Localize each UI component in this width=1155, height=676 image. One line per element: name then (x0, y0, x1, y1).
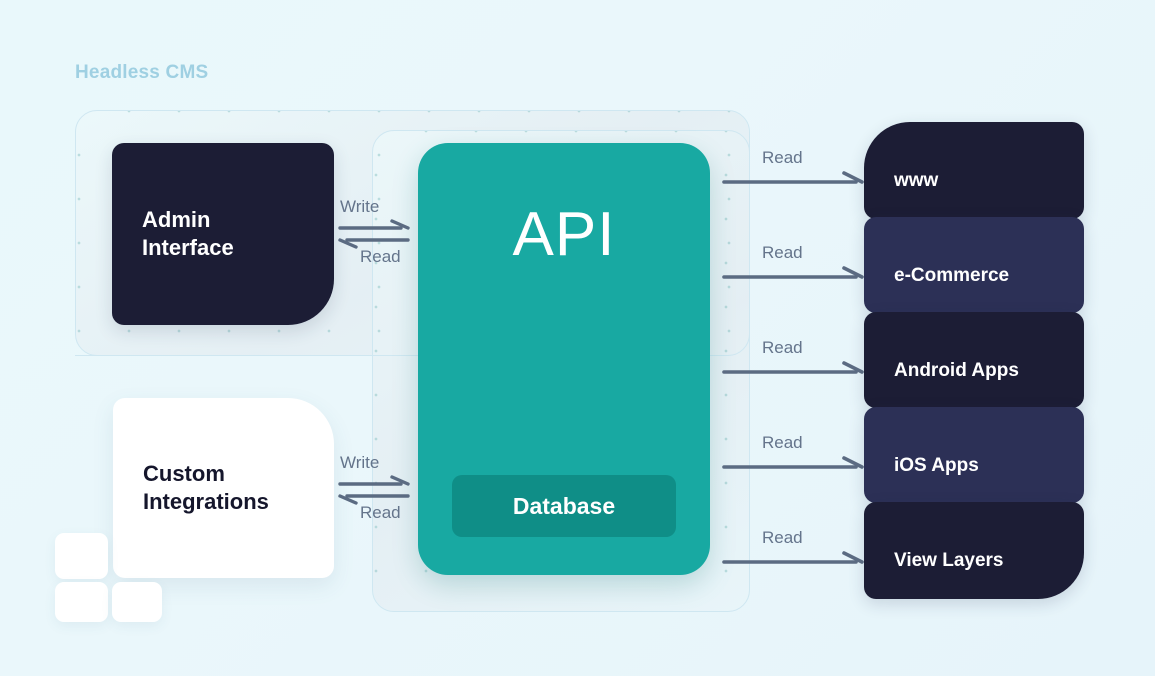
client-label: Android Apps (894, 360, 1019, 382)
admin-api-write-label: Write (340, 197, 379, 217)
decorative-square-2 (55, 582, 108, 622)
read-arrow-glyph (724, 457, 862, 487)
node-custom-integrations[interactable]: Custom Integrations (113, 398, 334, 578)
client-label: View Layers (894, 550, 1004, 572)
diagram-title: Headless CMS (75, 62, 208, 84)
client-box-view-layers[interactable]: View Layers (864, 502, 1084, 599)
read-arrow-glyph (724, 362, 862, 392)
admin-api-read-label: Read (360, 247, 401, 267)
node-api[interactable]: API Database (418, 143, 710, 575)
read-arrow-label: Read (762, 433, 803, 453)
read-arrow-label: Read (762, 338, 803, 358)
custom-integrations-label-line2: Integrations (143, 488, 269, 516)
database-label: Database (513, 493, 615, 520)
read-arrow-label: Read (762, 528, 803, 548)
read-arrow-label: Read (762, 243, 803, 263)
client-box-ios-apps[interactable]: iOS Apps (864, 407, 1084, 503)
client-label: e-Commerce (894, 265, 1009, 287)
client-box-e-commerce[interactable]: e-Commerce (864, 217, 1084, 313)
api-label: API (418, 199, 710, 270)
node-admin-interface[interactable]: Admin Interface (112, 143, 334, 325)
admin-interface-label-line1: Admin (142, 206, 234, 234)
admin-api-arrow-glyph (340, 221, 408, 247)
read-arrow-glyph (724, 172, 862, 202)
client-box-www[interactable]: www (864, 122, 1084, 219)
read-arrow-glyph (724, 552, 862, 582)
decorative-square-3 (112, 582, 162, 622)
admin-interface-label-line2: Interface (142, 234, 234, 262)
custom-api-write-label: Write (340, 453, 379, 473)
decorative-square-1 (55, 533, 108, 579)
read-arrow-label: Read (762, 148, 803, 168)
client-label: www (894, 170, 938, 192)
custom-api-arrow-glyph (340, 477, 408, 503)
diagram-canvas: Headless CMS Admin Interface Custom Inte… (0, 0, 1155, 676)
custom-integrations-label-line1: Custom (143, 460, 269, 488)
node-database[interactable]: Database (452, 475, 676, 537)
read-arrow-glyph (724, 267, 862, 297)
panel-connector-line (75, 355, 375, 356)
client-label: iOS Apps (894, 455, 979, 477)
client-box-android-apps[interactable]: Android Apps (864, 312, 1084, 408)
custom-api-read-label: Read (360, 503, 401, 523)
